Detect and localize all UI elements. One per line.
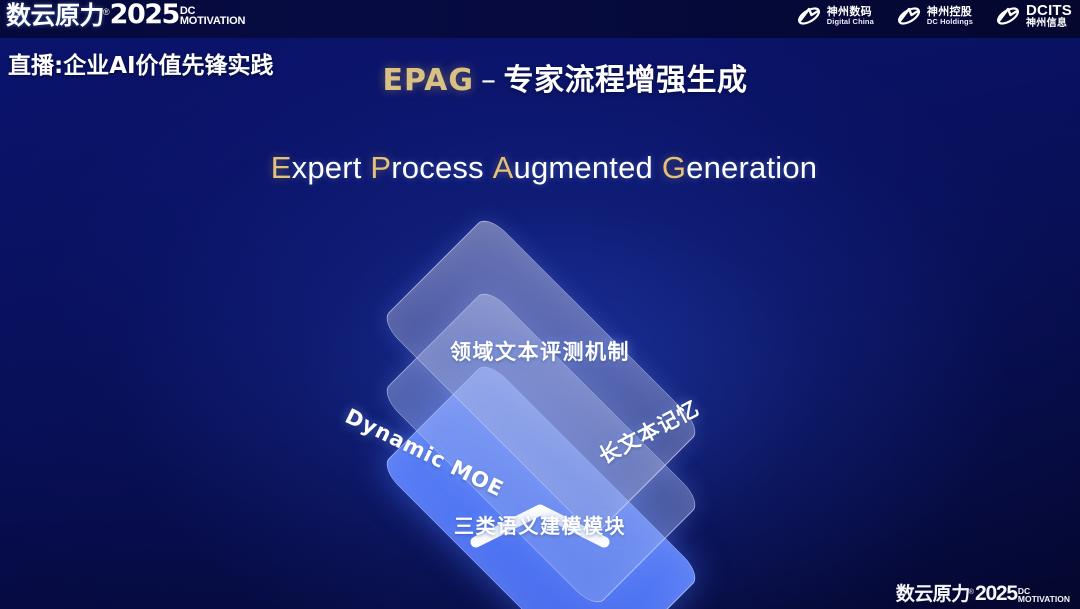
presentation-slide: 数云原力 ® 2025 DC MOTIVATION 直播:企业AI价值先锋实践 …	[0, 0, 1080, 609]
layered-stack-diagram: 领域文本评测机制 Dynamic MOE 长文本记忆 三类语义建模模块	[290, 228, 790, 576]
partner-label-group: 神州控股 DC Holdings	[927, 6, 973, 26]
brand-dc-motivation: DC MOTIVATION	[180, 6, 245, 27]
subtitle-word-process: rocess	[391, 150, 484, 185]
watermark-logo: 数云原力 ® 2025 DC MOTIVATION	[896, 584, 1070, 604]
page-title-inner: EPAG–专家流程增强生成	[382, 55, 747, 99]
swoosh-icon	[896, 3, 922, 29]
partner-label-group: 神州数码 Digital China	[827, 6, 874, 26]
subtitle-initial-a: A	[493, 150, 514, 185]
live-broadcast-title: 直播:企业AI价值先锋实践	[8, 46, 274, 80]
watermark-motivation-label: MOTIVATION	[1018, 595, 1070, 604]
subtitle-space-1	[362, 150, 371, 185]
swoosh-icon	[796, 3, 822, 29]
swoosh-icon	[995, 3, 1021, 29]
partner-name-en: Digital China	[827, 18, 874, 26]
partner-name-en: DCITS	[1026, 3, 1072, 18]
partner-logo-digital-china: 神州数码 Digital China	[796, 3, 874, 29]
partner-name-cn: 神州控股	[927, 6, 973, 17]
partner-logo-dc-holdings: 神州控股 DC Holdings	[896, 3, 973, 29]
title-dash: –	[481, 63, 497, 98]
subtitle-initial-g: G	[662, 150, 686, 185]
partner-logo-group: 神州数码 Digital China 神州控股 DC Holdings	[796, 3, 1072, 29]
subtitle-initial-e: E	[271, 150, 292, 185]
subtitle-space-2	[484, 150, 493, 185]
brand-name-cn: 数云原力	[6, 3, 104, 28]
brand-motivation-label: MOTIVATION	[180, 16, 245, 27]
subtitle-word-expert: xpert	[292, 150, 362, 185]
partner-name-cn: 神州信息	[1026, 19, 1072, 29]
subtitle: Expert Process Augmented Generation	[0, 150, 1080, 186]
title-chinese: 专家流程增强生成	[504, 63, 748, 98]
partner-logo-dcits: DCITS 神州信息	[995, 3, 1072, 29]
brand-year: 2025	[110, 2, 179, 28]
brand-registered-mark: ®	[103, 8, 110, 17]
watermark-dc-motivation: DC MOTIVATION	[1018, 587, 1070, 603]
partner-name-cn: 神州数码	[827, 6, 874, 17]
subtitle-space-3	[653, 150, 662, 185]
title-acronym: EPAG	[382, 63, 474, 98]
watermark-year: 2025	[975, 584, 1017, 604]
subtitle-initial-p: P	[370, 150, 391, 185]
partner-name-en: DC Holdings	[927, 18, 973, 26]
partner-label-group: DCITS 神州信息	[1026, 3, 1072, 28]
brand-logo: 数云原力 ® 2025 DC MOTIVATION	[6, 2, 245, 28]
gradient-divider	[395, 124, 683, 131]
watermark-registered-mark: ®	[969, 589, 974, 596]
subtitle-word-generation: eneration	[686, 150, 817, 185]
subtitle-inner: Expert Process Augmented Generation	[271, 150, 817, 186]
watermark-name-cn: 数云原力	[896, 585, 970, 604]
subtitle-word-augmented: ugmented	[514, 150, 653, 185]
